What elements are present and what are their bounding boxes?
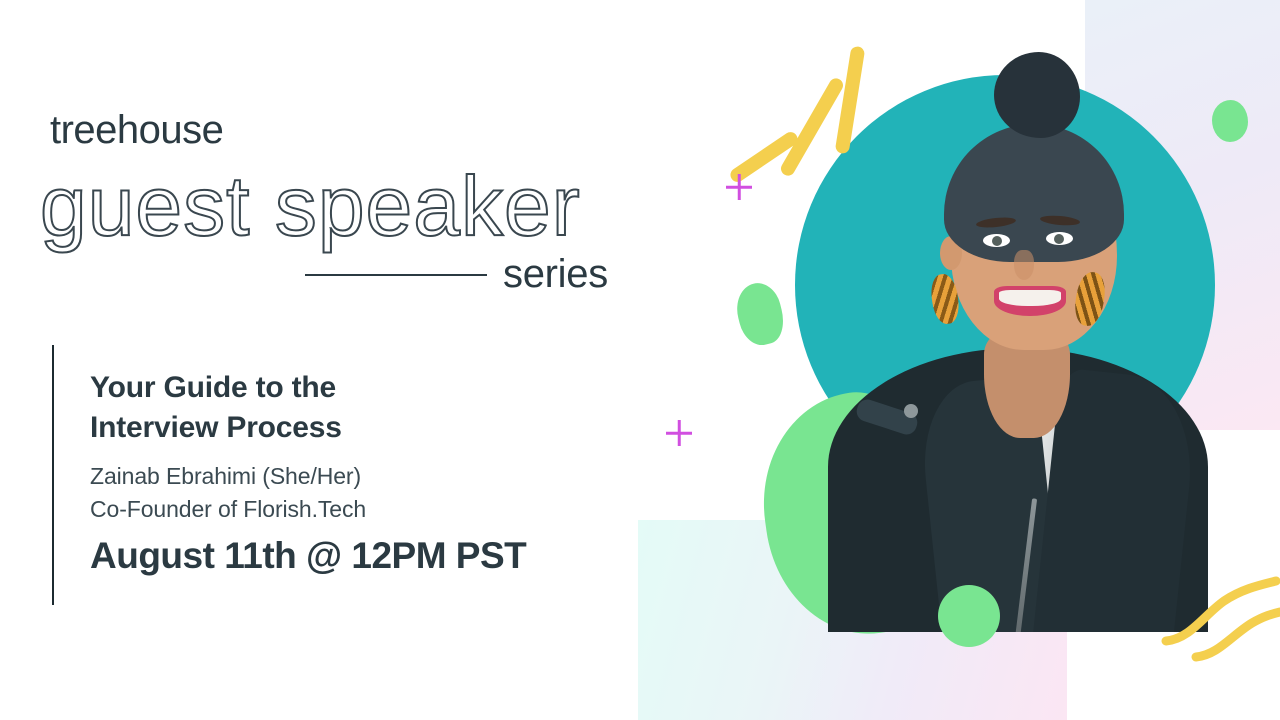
talk-title-line-2: Interview Process — [90, 408, 560, 448]
series-row: series — [305, 252, 625, 297]
magenta-plus-icon-1 — [726, 174, 752, 200]
teeth — [999, 290, 1061, 306]
vertical-accent-rule — [52, 345, 54, 605]
jacket-stud — [904, 404, 918, 418]
headline-title: guest speaker — [40, 158, 581, 255]
eye-right — [1046, 232, 1073, 245]
speaker-details: Zainab Ebrahimi (She/Her) Co-Founder of … — [90, 460, 560, 525]
event-datetime: August 11th @ 12PM PST — [90, 535, 650, 577]
series-divider-rule — [305, 274, 487, 276]
talk-title: Your Guide to the Interview Process — [90, 368, 560, 447]
magenta-plus-icon-2 — [666, 420, 692, 446]
green-blob-small-top — [731, 279, 789, 350]
nose — [1014, 250, 1034, 280]
speaker-photo — [818, 28, 1218, 632]
yellow-curve-icons — [1160, 565, 1280, 675]
series-label: series — [503, 252, 608, 297]
guest-speaker-promo-slide: treehouse guest speaker series Your Guid… — [0, 0, 1280, 720]
eye-left — [983, 234, 1010, 247]
speaker-name: Zainab Ebrahimi (She/Her) — [90, 460, 560, 493]
green-circle-bottom — [938, 585, 1000, 647]
hair — [944, 124, 1124, 262]
smiling-mouth — [994, 286, 1066, 316]
talk-title-line-1: Your Guide to the — [90, 368, 560, 408]
hair-bun — [994, 52, 1080, 138]
brand-name: treehouse — [50, 108, 223, 153]
speaker-role: Co-Founder of Florish.Tech — [90, 493, 560, 526]
